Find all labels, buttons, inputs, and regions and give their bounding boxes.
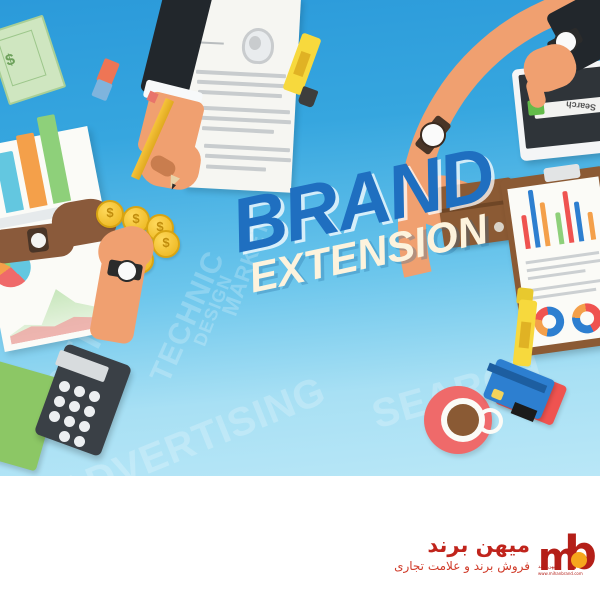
logo-text-block: میهن برند فروش برند و علامت تجاری <box>394 533 530 574</box>
report-bar <box>574 201 585 241</box>
coin: $ <box>96 200 124 228</box>
calculator-key <box>84 406 95 417</box>
calculator-key <box>49 411 60 422</box>
calculator-key <box>69 401 80 412</box>
hero-illustration: SEM TECHNIC ADVERTISING MARKET SEARCH DE… <box>0 0 600 476</box>
calculator-key <box>54 396 65 407</box>
brand-logo[interactable]: m b میهن برند www.mihanbrand.com میهن بر… <box>394 528 594 578</box>
calculator-key <box>64 416 75 427</box>
coin: $ <box>152 230 180 258</box>
calculator-key <box>89 391 100 402</box>
logo-mark-subtitle: میهن برند <box>538 564 558 570</box>
logo-name: میهن برند <box>394 533 530 557</box>
logo-tagline: فروش برند و علامت تجاری <box>394 560 530 574</box>
calculator-key <box>59 431 70 442</box>
report-bar <box>540 202 551 246</box>
report-bar <box>555 212 564 244</box>
calculator-key <box>59 381 70 392</box>
logo-accent-dot <box>571 552 587 568</box>
page-root: SEM TECHNIC ADVERTISING MARKET SEARCH DE… <box>0 0 600 600</box>
mb-logo-mark: m b میهن برند www.mihanbrand.com <box>538 528 594 578</box>
report-bar <box>528 190 541 248</box>
calculator-key <box>74 386 85 397</box>
report-bar <box>587 212 596 240</box>
calculator-key <box>79 421 90 432</box>
report-bar <box>562 191 574 243</box>
coffee-liquid <box>447 404 479 436</box>
report-bar <box>521 215 531 249</box>
calculator-key <box>74 436 85 447</box>
footer-bar: m b میهن برند www.mihanbrand.com میهن بر… <box>0 476 600 600</box>
logo-mark-url: www.mihanbrand.com <box>538 571 583 576</box>
